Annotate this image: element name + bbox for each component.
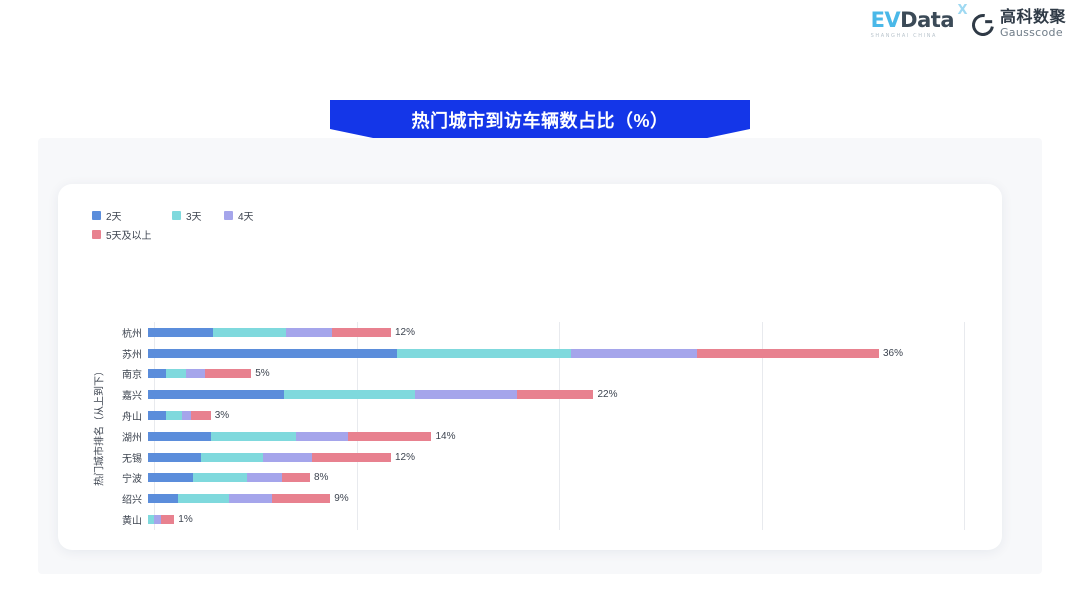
stacked-bar[interactable] [148, 473, 310, 482]
chart-plot: 热门城市排名（从上到下） 杭州12%苏州36%南京5%嘉兴22%舟山3%湖州14… [96, 322, 976, 530]
evdata-logo: EVDataX SHANGHAI CHINA [871, 10, 954, 39]
bar-area: 12% [148, 447, 976, 468]
bar-segment-5天及以上 [348, 432, 431, 441]
bar-value-label: 1% [178, 514, 192, 525]
evdata-wordmark-data: Data [900, 8, 954, 32]
bar-value-label: 3% [215, 410, 229, 421]
bar-segment-5天及以上 [205, 369, 252, 378]
chart-legend: 2天3天4天5天及以上 [92, 208, 352, 242]
row-label-嘉兴: 嘉兴 [96, 387, 148, 402]
bar-value-label: 9% [334, 493, 348, 504]
bar-segment-5天及以上 [282, 473, 310, 482]
chart-row[interactable]: 湖州14% [96, 426, 976, 447]
brand-bar: EVDataX SHANGHAI CHINA 高科数聚 Gausscode [871, 10, 1066, 39]
row-label-舟山: 舟山 [96, 408, 148, 423]
bar-segment-4天 [247, 473, 281, 482]
stacked-bar[interactable] [148, 453, 391, 462]
gausscode-logo: 高科数聚 Gausscode [972, 10, 1066, 38]
chart-row[interactable]: 黄山1% [96, 509, 976, 530]
page-title: 热门城市到访车辆数占比（%） [411, 107, 668, 137]
gausscode-g-icon [968, 9, 999, 40]
bar-segment-3天 [166, 369, 186, 378]
slide-root: EVDataX SHANGHAI CHINA 高科数聚 Gausscode 热门… [0, 0, 1080, 608]
bar-segment-4天 [415, 390, 516, 399]
evdata-subtitle: SHANGHAI CHINA [871, 33, 938, 39]
bar-segment-2天 [148, 349, 397, 358]
bar-segment-4天 [186, 369, 204, 378]
bar-segment-2天 [148, 494, 178, 503]
bar-segment-2天 [148, 453, 201, 462]
bar-segment-5天及以上 [191, 411, 211, 420]
bar-segment-4天 [263, 453, 312, 462]
chart-row[interactable]: 无锡12% [96, 447, 976, 468]
row-label-南京: 南京 [96, 366, 148, 381]
stacked-bar[interactable] [148, 349, 879, 358]
bar-segment-3天 [201, 453, 264, 462]
row-label-绍兴: 绍兴 [96, 491, 148, 506]
evdata-x-icon: X [957, 4, 967, 17]
bar-segment-3天 [211, 432, 296, 441]
bar-segment-4天 [182, 411, 190, 420]
chart-bar-rows: 杭州12%苏州36%南京5%嘉兴22%舟山3%湖州14%无锡12%宁波8%绍兴9… [96, 322, 976, 530]
bar-area: 12% [148, 322, 976, 343]
legend-swatch-icon [172, 211, 181, 220]
gausscode-name-cn: 高科数聚 [1000, 10, 1066, 27]
bar-segment-4天 [296, 432, 349, 441]
evdata-wordmark: EVDataX [871, 10, 954, 31]
stacked-bar[interactable] [148, 432, 431, 441]
legend-item-3天[interactable]: 3天 [172, 208, 224, 223]
chart-card: 2天3天4天5天及以上 热门城市排名（从上到下） 杭州12%苏州36%南京5%嘉… [58, 184, 1002, 550]
bar-segment-3天 [284, 390, 416, 399]
row-label-苏州: 苏州 [96, 346, 148, 361]
bar-segment-5天及以上 [272, 494, 331, 503]
legend-label: 5天及以上 [106, 227, 152, 242]
bar-segment-5天及以上 [312, 453, 391, 462]
row-label-无锡: 无锡 [96, 450, 148, 465]
row-label-湖州: 湖州 [96, 429, 148, 444]
bar-value-label: 14% [435, 431, 455, 442]
legend-item-5天及以上[interactable]: 5天及以上 [92, 227, 352, 242]
bar-value-label: 5% [255, 368, 269, 379]
bar-segment-3天 [178, 494, 229, 503]
bar-segment-4天 [286, 328, 333, 337]
stacked-bar[interactable] [148, 515, 174, 524]
bar-segment-5天及以上 [697, 349, 879, 358]
bar-segment-3天 [213, 328, 286, 337]
bar-segment-4天 [229, 494, 272, 503]
stacked-bar[interactable] [148, 390, 593, 399]
chart-row[interactable]: 舟山3% [96, 405, 976, 426]
stacked-bar[interactable] [148, 494, 330, 503]
legend-swatch-icon [92, 211, 101, 220]
body-panel: 2天3天4天5天及以上 热门城市排名（从上到下） 杭州12%苏州36%南京5%嘉… [38, 138, 1042, 574]
stacked-bar[interactable] [148, 369, 251, 378]
bar-value-label: 12% [395, 327, 415, 338]
legend-label: 2天 [106, 208, 122, 223]
gausscode-text: 高科数聚 Gausscode [1000, 10, 1066, 38]
bar-segment-3天 [397, 349, 571, 358]
chart-row[interactable]: 宁波8% [96, 468, 976, 489]
legend-label: 3天 [186, 208, 202, 223]
bar-segment-2天 [148, 369, 166, 378]
bar-area: 1% [148, 509, 976, 530]
bar-segment-5天及以上 [332, 328, 391, 337]
row-label-黄山: 黄山 [96, 512, 148, 527]
bar-area: 9% [148, 488, 976, 509]
legend-item-4天[interactable]: 4天 [224, 208, 276, 223]
bar-area: 22% [148, 384, 976, 405]
bar-segment-5天及以上 [161, 515, 174, 524]
bar-value-label: 36% [883, 348, 903, 359]
legend-item-2天[interactable]: 2天 [92, 208, 172, 223]
stacked-bar[interactable] [148, 411, 211, 420]
row-label-杭州: 杭州 [96, 325, 148, 340]
row-label-宁波: 宁波 [96, 470, 148, 485]
bar-segment-2天 [148, 432, 211, 441]
bar-area: 3% [148, 405, 976, 426]
bar-value-label: 22% [597, 389, 617, 400]
bar-area: 5% [148, 364, 976, 385]
bar-value-label: 8% [314, 472, 328, 483]
bar-value-label: 12% [395, 452, 415, 463]
legend-label: 4天 [238, 208, 254, 223]
bar-segment-4天 [571, 349, 697, 358]
stacked-bar[interactable] [148, 328, 391, 337]
bar-segment-3天 [166, 411, 182, 420]
chart-row[interactable]: 苏州36% [96, 343, 976, 364]
gausscode-name-en: Gausscode [1000, 27, 1066, 39]
bar-segment-3天 [193, 473, 248, 482]
legend-swatch-icon [92, 230, 101, 239]
chart-row[interactable]: 嘉兴22% [96, 384, 976, 405]
bar-segment-2天 [148, 411, 166, 420]
bar-segment-2天 [148, 390, 284, 399]
bar-segment-4天 [154, 515, 161, 524]
bar-segment-2天 [148, 328, 213, 337]
bar-segment-2天 [148, 473, 193, 482]
bar-area: 36% [148, 343, 976, 364]
legend-swatch-icon [224, 211, 233, 220]
bar-segment-5天及以上 [517, 390, 594, 399]
bar-area: 14% [148, 426, 976, 447]
chart-row[interactable]: 绍兴9% [96, 488, 976, 509]
chart-row[interactable]: 杭州12% [96, 322, 976, 343]
evdata-wordmark-ev: EV [871, 8, 901, 32]
bar-area: 8% [148, 468, 976, 489]
chart-row[interactable]: 南京5% [96, 364, 976, 385]
